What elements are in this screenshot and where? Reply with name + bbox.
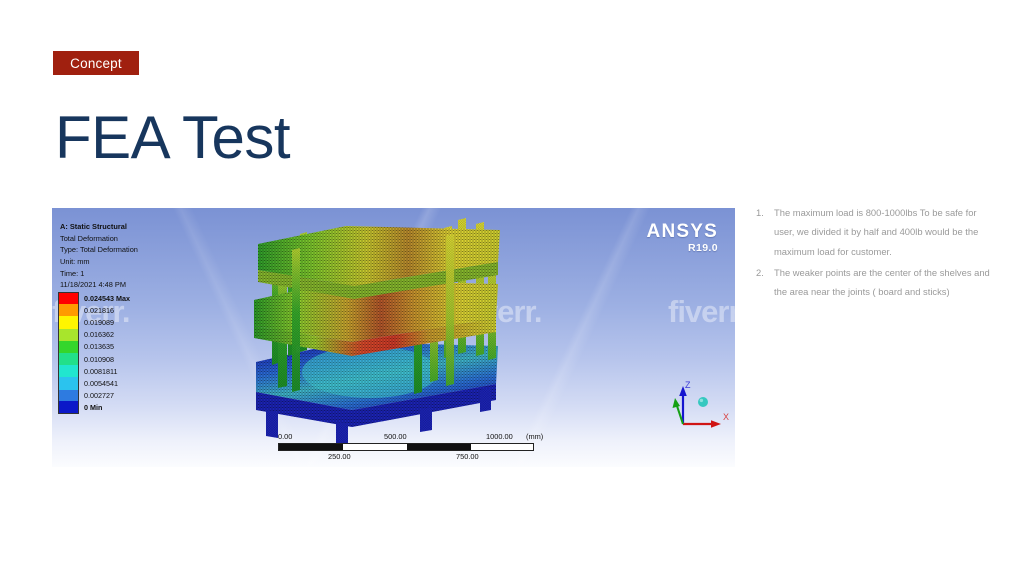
info-result-name: Total Deformation	[60, 233, 138, 245]
note-item: 2.The weaker points are the center of th…	[752, 263, 992, 302]
legend-value: 0.013635	[84, 342, 114, 351]
legend-swatch	[58, 304, 79, 316]
info-timestamp: 11/18/2021 4:48 PM	[60, 279, 138, 291]
scale-tick: 750.00	[456, 452, 479, 461]
legend-row: 0.0081811	[58, 365, 130, 377]
legend-row: 0.021816	[58, 304, 130, 316]
ansys-logo: ANSYS R19.0	[647, 222, 718, 254]
note-number: 1.	[756, 203, 764, 222]
concept-badge: Concept	[53, 51, 139, 75]
legend-swatch	[58, 377, 79, 389]
legend-swatch	[58, 292, 79, 305]
legend-row: 0.024543 Max	[58, 292, 130, 304]
legend-value: 0 Min	[84, 403, 102, 412]
note-item: 1.The maximum load is 800-1000lbs To be …	[752, 203, 992, 261]
legend-value: 0.0081811	[84, 367, 117, 376]
svg-text:X: X	[723, 412, 729, 422]
legend-row: 0.013635	[58, 341, 130, 353]
legend-row: 0.019089	[58, 316, 130, 328]
legend-swatch	[58, 390, 79, 402]
legend-swatch	[58, 365, 79, 377]
scale-bar: 0.00 500.00 1000.00 (mm) 250.00 750.00	[278, 432, 538, 462]
info-time: Time: 1	[60, 268, 138, 280]
legend-value: 0.002727	[84, 391, 114, 400]
svg-text:Z: Z	[685, 380, 691, 390]
slide: Concept FEA Test fiverr. fiverr. fiverr.…	[0, 0, 1024, 576]
info-result-type: Type: Total Deformation	[60, 244, 138, 256]
legend-value: 0.024543 Max	[84, 294, 130, 303]
scale-tick: 500.00	[384, 432, 407, 441]
legend-swatch	[58, 341, 79, 353]
legend-row: 0.002727	[58, 390, 130, 402]
legend-value: 0.021816	[84, 306, 114, 315]
ansys-logo-release: R19.0	[647, 242, 718, 254]
legend-swatch	[58, 329, 79, 341]
page-title: FEA Test	[55, 108, 290, 168]
legend-row: 0.0054541	[58, 377, 130, 389]
scale-bar-bottom-ticks: 250.00 750.00	[278, 451, 538, 462]
shelf-mesh-model	[248, 214, 548, 450]
legend-swatch	[58, 353, 79, 365]
scale-bar-unit: (mm)	[526, 432, 543, 441]
fea-result-image: fiverr. fiverr. fiverr. fiverr. A: Stati…	[52, 208, 735, 467]
legend-row: 0 Min	[58, 402, 130, 414]
color-legend: 0.024543 Max0.0218160.0190890.0163620.01…	[58, 292, 130, 414]
scale-tick: 250.00	[328, 452, 351, 461]
legend-value: 0.0054541	[84, 379, 118, 388]
legend-swatch	[58, 401, 79, 414]
ansys-logo-name: ANSYS	[647, 222, 718, 241]
scale-tick: 1000.00	[486, 432, 513, 441]
legend-value: 0.019089	[84, 318, 114, 327]
legend-row: 0.010908	[58, 353, 130, 365]
legend-value: 0.010908	[84, 355, 114, 364]
scale-tick: 0.00	[278, 432, 292, 441]
axis-triad: Z X	[669, 376, 735, 434]
scale-bar-graphic	[278, 443, 534, 451]
info-unit: Unit: mm	[60, 256, 138, 268]
concept-badge-label: Concept	[70, 56, 122, 71]
notes-list: 1.The maximum load is 800-1000lbs To be …	[752, 203, 992, 303]
legend-swatch	[58, 316, 79, 328]
analysis-info-block: A: Static Structural Total Deformation T…	[60, 221, 138, 291]
legend-row: 0.016362	[58, 329, 130, 341]
note-number: 2.	[756, 263, 764, 282]
note-text: The maximum load is 800-1000lbs To be sa…	[774, 207, 978, 257]
note-text: The weaker points are the center of the …	[774, 267, 990, 297]
scale-bar-top-ticks: 0.00 500.00 1000.00 (mm)	[278, 432, 538, 443]
watermark: fiverr.	[668, 294, 735, 330]
info-analysis-name: A: Static Structural	[60, 221, 138, 233]
legend-value: 0.016362	[84, 330, 114, 339]
